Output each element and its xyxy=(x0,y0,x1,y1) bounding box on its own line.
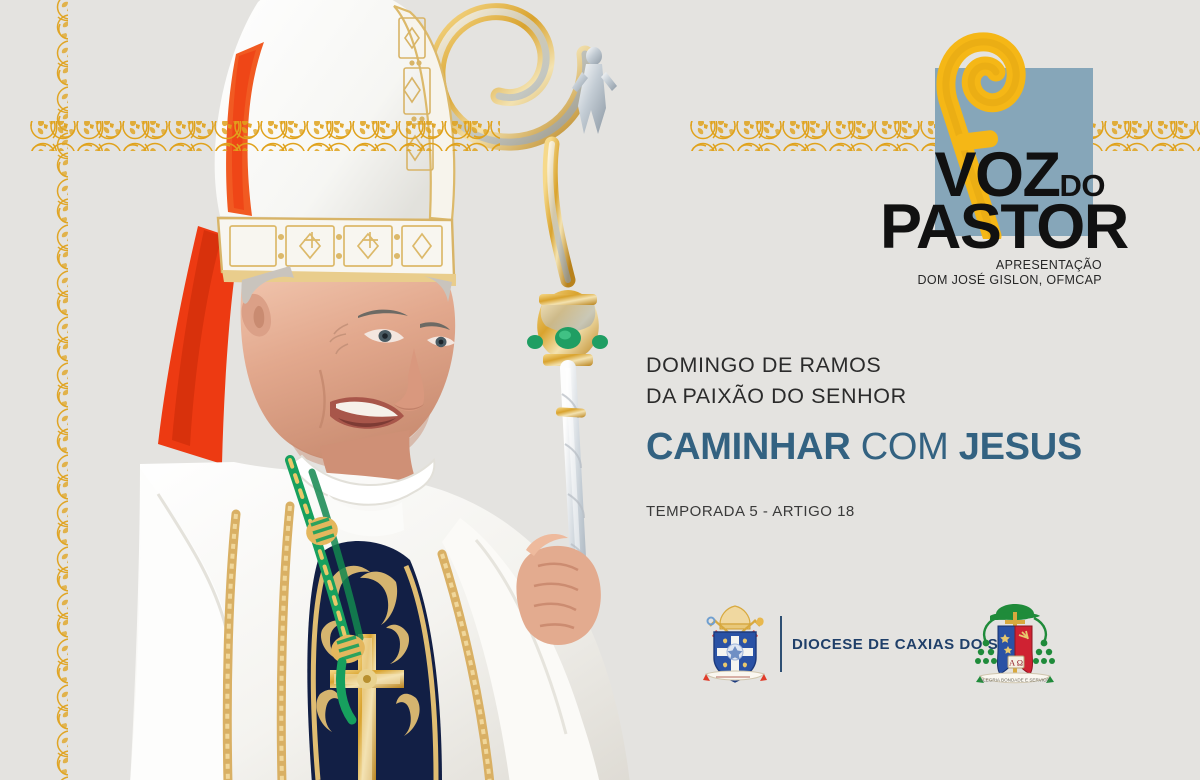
brand-presenter-block: APRESENTAÇÃO DOM JOSÉ GISLON, OFMCAP xyxy=(830,258,1102,289)
headline-word-com: COM xyxy=(861,426,949,468)
tassels-right xyxy=(1033,640,1055,664)
crozier-node xyxy=(527,290,608,366)
crest-divider xyxy=(780,616,782,672)
bishop-coat-of-arms-icon: A Ω ALEGRIA BONDADE E SERVICO xyxy=(974,598,1056,690)
kicker-line-1: DOMINGO DE RAMOS xyxy=(646,350,1076,381)
gold-filigree-horizontal-band-left xyxy=(30,112,500,160)
brand-presenter-label: APRESENTAÇÃO xyxy=(830,258,1102,273)
crest-motto-text: ALEGRIA BONDADE E SERVICO xyxy=(980,678,1050,683)
episode-headline: CAMINHAR COM JESUS xyxy=(646,428,1116,466)
headline-word-jesus: JESUS xyxy=(959,426,1082,468)
kicker-line-2: DA PAIXÃO DO SENHOR xyxy=(646,381,1076,412)
brand-pastor-text: PASTOR xyxy=(880,200,1105,254)
brand-wordmark: VOZDO PASTOR xyxy=(880,150,1105,255)
brand-presenter-name: DOM JOSÉ GISLON, OFMCAP xyxy=(830,273,1102,288)
headline-word-caminhar: CAMINHAR xyxy=(646,426,850,468)
footer-crest-row: DIOCESE DE CAXIAS DO SUL xyxy=(700,598,1070,690)
episode-number-label: TEMPORADA 5 - ARTIGO 18 xyxy=(646,503,855,520)
liturgical-kicker: DOMINGO DE RAMOS DA PAIXÃO DO SENHOR xyxy=(646,350,1076,411)
crest-alpha-omega-letters: A Ω xyxy=(1009,658,1023,668)
poster-canvas: VOZDO PASTOR APRESENTAÇÃO DOM JOSÉ GISLO… xyxy=(0,0,1200,780)
bishop-hand xyxy=(516,534,600,645)
tassels-left xyxy=(975,640,997,664)
diocese-coat-of-arms-icon xyxy=(700,600,770,688)
